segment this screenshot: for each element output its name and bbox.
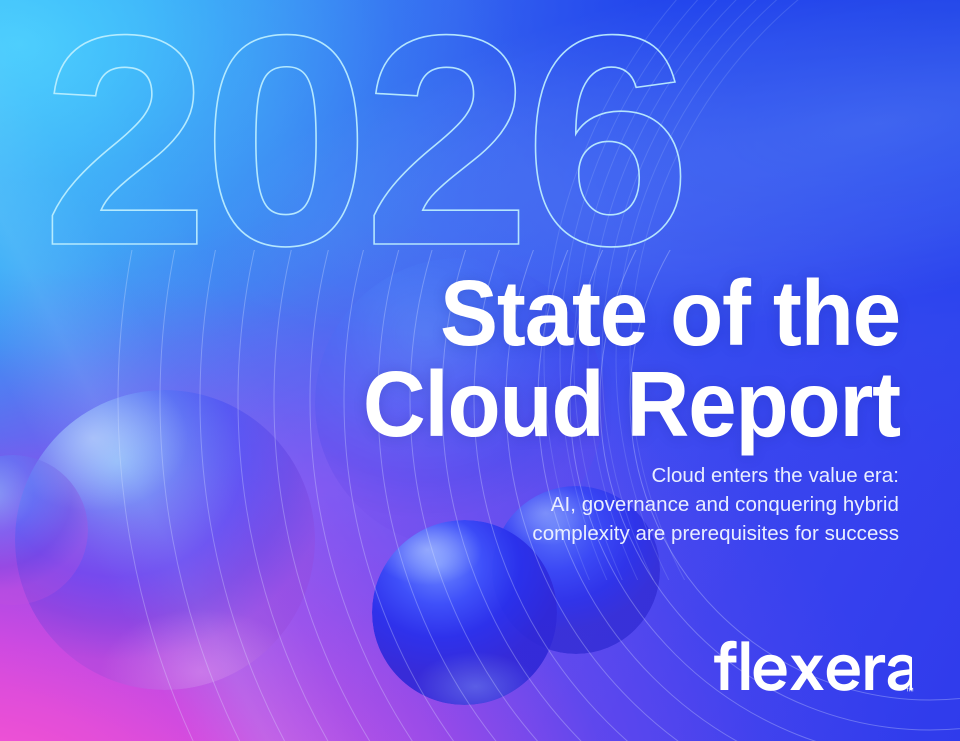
flexera-wordmark-icon (712, 640, 912, 702)
subtitle-line-2: AI, governance and conquering hybrid (0, 490, 899, 519)
subtitle-line-1: Cloud enters the value era: (0, 461, 899, 490)
page-subtitle: Cloud enters the value era: AI, governan… (0, 461, 899, 548)
cover-content: 2026 State of the Cloud Report Cloud ent… (0, 0, 960, 741)
headline-line-2: Cloud Report (59, 359, 901, 449)
flexera-logo: ™ (712, 640, 912, 702)
year-outline: 2026 (0, 0, 770, 282)
trademark-symbol: ™ (905, 686, 914, 696)
subtitle-line-3: complexity are prerequisites for success (0, 519, 899, 548)
report-cover: 2026 State of the Cloud Report Cloud ent… (0, 0, 960, 741)
page-title: State of the Cloud Report (59, 268, 901, 448)
headline-line-1: State of the (59, 268, 901, 358)
